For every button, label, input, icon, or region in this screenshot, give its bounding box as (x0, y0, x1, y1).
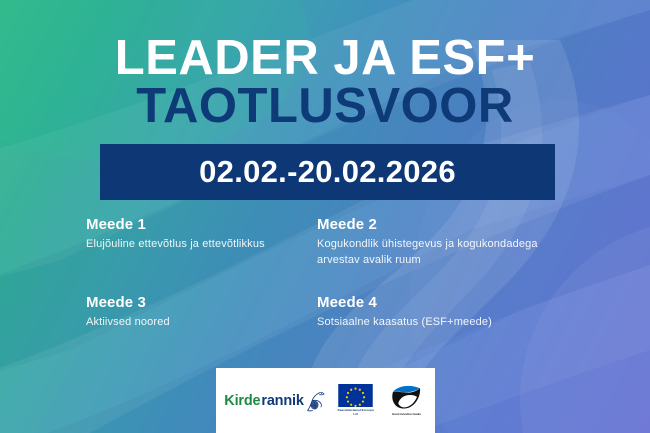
eu-logo: Kaasrahastanud Euroopa Liit (336, 384, 376, 416)
headline-line-2: TAOTLUSVOOR (0, 84, 650, 130)
measure-item-3: Meede 3 Aktiivsed noored (86, 294, 317, 331)
measure-item-4: Meede 4 Sotsiaalne kaasatus (ESF+meede) (317, 294, 586, 331)
poster-headline: LEADER JA ESF+ TAOTLUSVOOR (0, 36, 650, 129)
logo-card: Kirde rannik (216, 368, 435, 433)
crane-bird-icon (305, 390, 325, 412)
estonia-flag-swoosh-icon (390, 385, 423, 411)
date-range-text: 02.02.-20.02.2026 (199, 154, 456, 190)
headline-line-1: LEADER JA ESF+ (0, 36, 650, 82)
eu-logo-caption: Kaasrahastanud Euroopa Liit (336, 409, 376, 416)
measure-4-title: Meede 4 (317, 294, 578, 311)
measure-2-title: Meede 2 (317, 216, 578, 233)
kirderannik-logo: Kirde rannik (224, 390, 324, 412)
measures-grid: Meede 1 Elujõuline ettevõtlus ja ettevõt… (86, 216, 586, 331)
eu-flag-icon (338, 384, 373, 407)
kirderannik-text-part2: rannik (261, 393, 303, 409)
measure-4-description: Sotsiaalne kaasatus (ESF+meede) (317, 315, 578, 331)
kirderannik-text-part1: Kirde (224, 393, 260, 409)
measure-3-title: Meede 3 (86, 294, 309, 311)
measure-2-description: Kogukondlik ühistegevus ja kogukondadega… (317, 237, 578, 269)
measure-1-title: Meede 1 (86, 216, 309, 233)
measure-1-description: Elujõuline ettevõtlus ja ettevõtlikkus (86, 237, 309, 253)
measure-3-description: Aktiivsed noored (86, 315, 309, 331)
estonia-logo: Eesti tuleviku heaks (387, 385, 427, 417)
estonia-logo-caption: Eesti tuleviku heaks (387, 413, 427, 417)
date-banner: 02.02.-20.02.2026 (100, 144, 555, 200)
measure-item-1: Meede 1 Elujõuline ettevõtlus ja ettevõt… (86, 216, 317, 294)
poster-canvas: LEADER JA ESF+ TAOTLUSVOOR 02.02.-20.02.… (0, 0, 650, 433)
measure-item-2: Meede 2 Kogukondlik ühistegevus ja koguk… (317, 216, 586, 294)
